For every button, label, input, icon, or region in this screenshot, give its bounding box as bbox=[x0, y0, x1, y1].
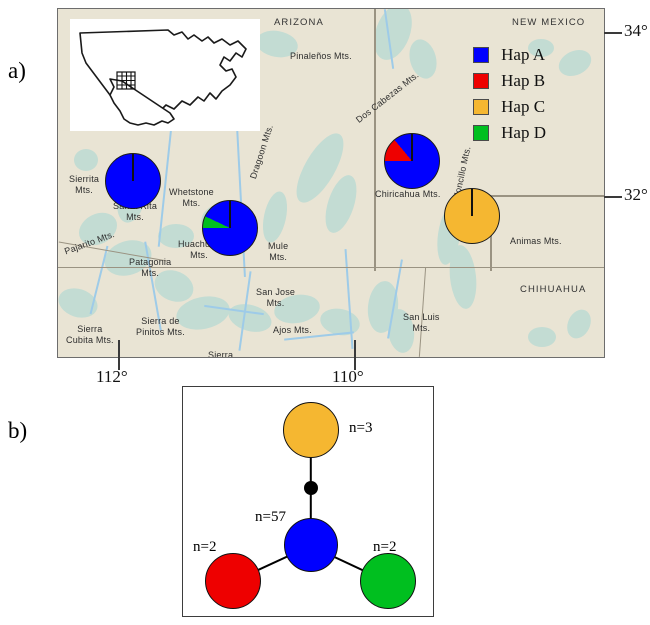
map-label-sierra-cubita-mts: Sierra Cubita Mts. bbox=[66, 324, 114, 346]
map-label-arizona: ARIZONA bbox=[274, 17, 324, 28]
lat-tick-34 bbox=[604, 32, 622, 34]
network-node-label: n=3 bbox=[349, 420, 372, 437]
legend-swatch-hap-b bbox=[473, 73, 489, 89]
legend-label-hap-c: Hap C bbox=[501, 97, 545, 117]
panel-a-label: a) bbox=[8, 58, 26, 84]
map-label-whetstone-mts: Whetstone Mts. bbox=[169, 187, 214, 209]
network-node-label: n=2 bbox=[193, 539, 216, 556]
map-canvas: ARIZONA NEW MEXICO CHIHUAHUA Pinaleños M… bbox=[58, 9, 604, 357]
legend-label-hap-a: Hap A bbox=[501, 45, 545, 65]
pie-radius-line bbox=[471, 189, 472, 216]
legend-label-hap-d: Hap D bbox=[501, 123, 546, 143]
legend-item-hap-c: Hap C bbox=[473, 97, 546, 117]
lat-label-34: 34° bbox=[624, 21, 648, 41]
network-layer: n=3n=57n=2n=2 bbox=[183, 387, 433, 616]
panel-b-label: b) bbox=[8, 418, 27, 444]
lon-label-112: 112° bbox=[96, 367, 128, 387]
map-label-animas-mts: Animas Mts. bbox=[510, 236, 562, 247]
map-label-mule-mts: Mule Mts. bbox=[268, 241, 288, 263]
network-node-hapD bbox=[360, 553, 416, 609]
map-label-pinalenos-mts: Pinaleños Mts. bbox=[290, 51, 352, 62]
map-label-chiricahua-mts: Chiricahua Mts. bbox=[375, 189, 441, 200]
network-node-hapC bbox=[283, 402, 339, 458]
network-node-hapB bbox=[205, 553, 261, 609]
north-america-inset-map bbox=[70, 19, 260, 131]
map-label-patagonia-mts: Patagonia Mts. bbox=[129, 257, 171, 279]
map-label-dragoon-mts: Dragoon Mts. bbox=[248, 123, 276, 180]
legend-swatch-hap-a bbox=[473, 47, 489, 63]
lat-tick-32 bbox=[604, 196, 622, 198]
map-label-sierra-de-pinitos-mts: Sierra de Pinitos Mts. bbox=[136, 316, 185, 338]
distribution-map: ARIZONA NEW MEXICO CHIHUAHUA Pinaleños M… bbox=[57, 8, 605, 358]
range-blob bbox=[447, 244, 480, 310]
range-blob bbox=[259, 189, 291, 244]
legend-swatch-hap-c bbox=[473, 99, 489, 115]
pie-radius-line bbox=[411, 134, 412, 161]
map-label-dos-cabezas-mts: Dos Cabezas Mts. bbox=[354, 70, 421, 126]
legend-item-hap-a: Hap A bbox=[473, 45, 546, 65]
map-label-san-jose-mts: San Jose Mts. bbox=[256, 287, 295, 309]
haplotype-legend: Hap A Hap B Hap C Hap D bbox=[473, 45, 546, 149]
legend-swatch-hap-d bbox=[473, 125, 489, 141]
river bbox=[90, 246, 109, 314]
map-label-ajos-mts: Ajos Mts. bbox=[273, 325, 312, 336]
legend-label-hap-b: Hap B bbox=[501, 71, 545, 91]
map-label-new-mexico: NEW MEXICO bbox=[512, 17, 585, 28]
range-blob bbox=[555, 45, 596, 81]
haplotype-network-panel: n=3n=57n=2n=2 bbox=[182, 386, 434, 617]
network-node-hapA bbox=[284, 518, 338, 572]
state-boundary-nm-segment bbox=[490, 195, 605, 197]
map-label-chihuahua: CHIHUAHUA bbox=[520, 284, 586, 295]
lon-label-110: 110° bbox=[332, 367, 364, 387]
map-label-san-luis-mts: San Luis Mts. bbox=[403, 312, 440, 334]
legend-item-hap-b: Hap B bbox=[473, 71, 546, 91]
network-node-label: n=2 bbox=[373, 539, 396, 556]
lat-label-32: 32° bbox=[624, 185, 648, 205]
median-vector-node bbox=[304, 481, 318, 495]
legend-item-hap-d: Hap D bbox=[473, 123, 546, 143]
range-blob bbox=[563, 306, 596, 342]
range-blob bbox=[74, 149, 98, 171]
lon-tick-110 bbox=[354, 340, 356, 370]
network-node-label: n=57 bbox=[255, 509, 286, 526]
state-boundary-az-nm bbox=[374, 9, 376, 271]
range-blob bbox=[528, 327, 556, 347]
pie-radius-line bbox=[132, 154, 133, 181]
map-label-sierrita-mts: Sierrita Mts. bbox=[69, 174, 99, 196]
lon-tick-112 bbox=[118, 340, 120, 370]
map-label-sierra: Sierra bbox=[208, 350, 233, 358]
pie-radius-line bbox=[229, 201, 230, 228]
